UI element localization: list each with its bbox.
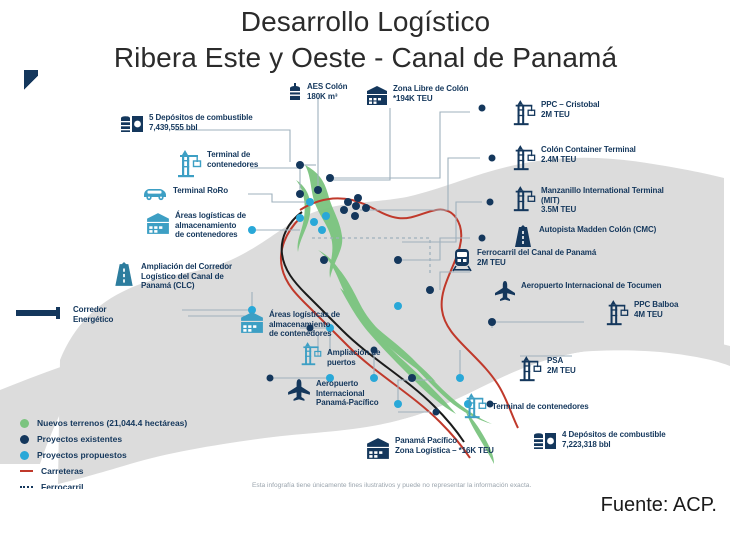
crane-icon bbox=[512, 145, 536, 171]
callout-terminal-contenedores-2[interactable]: Terminal de contenedores bbox=[463, 393, 589, 419]
crane-icon bbox=[518, 356, 542, 382]
callout-areas-logisticas-1[interactable]: Áreas logísticas de almacenamiento de co… bbox=[146, 211, 246, 240]
callout-aeropuerto-panama-pacifico[interactable]: Aeropuerto Internacional Panamá-Pacífico bbox=[287, 379, 379, 408]
callout-corredor-energetico[interactable]: Corredor Energético bbox=[16, 305, 113, 324]
legend-marker-cyan-dot bbox=[20, 451, 29, 460]
callout-manzanillo-mit[interactable]: Manzanillo International Terminal (MIT) … bbox=[512, 186, 664, 215]
callout-colon-container-terminal[interactable]: Colón Container Terminal 2.4M TEU bbox=[512, 145, 636, 171]
callout-terminal-contenedores-1[interactable]: Terminal de contenedores bbox=[176, 150, 258, 178]
callout-label: Aeropuerto Internacional de Tocumen bbox=[521, 281, 661, 291]
callout-depositos-5[interactable]: 5 Depósitos de combustible 7,439,555 bbl bbox=[120, 113, 253, 133]
legend: Nuevos terrenos (21,044.4 hectáreas) Pro… bbox=[18, 415, 248, 495]
callout-ppc-cristobal[interactable]: PPC – Cristobal 2M TEU bbox=[512, 100, 600, 126]
legend-label: Proyectos existentes bbox=[37, 434, 122, 444]
callout-label: Áreas logísticas de almacenamiento de co… bbox=[269, 310, 340, 339]
legend-marker-rail-dotted bbox=[20, 486, 33, 488]
callout-label: AES Colón 180K m³ bbox=[307, 82, 347, 101]
train-icon bbox=[452, 248, 472, 272]
callout-label: Panamá Pacífico Zona Logística – *16K TE… bbox=[395, 436, 494, 455]
legend-label: Nuevos terrenos (21,044.4 hectáreas) bbox=[37, 418, 187, 428]
warehouse-icon bbox=[366, 84, 388, 106]
callout-label: 5 Depósitos de combustible 7,439,555 bbl bbox=[149, 113, 253, 132]
fuel-depot-icon bbox=[120, 113, 144, 133]
legend-label: Carreteras bbox=[41, 466, 84, 476]
callout-label: Colón Container Terminal 2.4M TEU bbox=[541, 145, 636, 164]
legend-marker-green-dot bbox=[20, 419, 29, 428]
legend-item-nuevos-terrenos: Nuevos terrenos (21,044.4 hectáreas) bbox=[18, 415, 248, 431]
callout-label: Manzanillo International Terminal (MIT) … bbox=[541, 186, 664, 215]
callout-label: PPC – Cristobal 2M TEU bbox=[541, 100, 600, 119]
warehouse-icon bbox=[146, 211, 170, 235]
legend-marker-navy-dot bbox=[20, 435, 29, 444]
legend-item-proyectos-existentes: Proyectos existentes bbox=[18, 431, 248, 447]
callout-label: Terminal de contenedores bbox=[207, 150, 258, 169]
callout-ferrocarril-canal[interactable]: Ferrocarril del Canal de Panamá 2M TEU bbox=[452, 248, 596, 272]
callout-zona-libre-colon[interactable]: Zona Libre de Colón *194K TEU bbox=[366, 84, 468, 106]
callout-autopista-madden-colon[interactable]: Autopista Madden Colón (CMC) bbox=[512, 225, 656, 249]
crane-icon bbox=[463, 393, 487, 419]
callout-label: Ampliación del Corredor Logístico del Ca… bbox=[141, 262, 232, 291]
callout-label: Aeropuerto Internacional Panamá-Pacífico bbox=[316, 379, 379, 408]
callout-areas-logisticas-2[interactable]: Áreas logísticas de almacenamiento de co… bbox=[240, 310, 340, 339]
callout-label: Áreas logísticas de almacenamiento de co… bbox=[175, 211, 246, 240]
title-line-1: Desarrollo Logístico bbox=[0, 4, 731, 40]
airplane-icon bbox=[287, 379, 311, 401]
source-attribution: Fuente: ACP. bbox=[601, 494, 717, 517]
crane-icon bbox=[605, 300, 629, 326]
crane-icon bbox=[176, 150, 202, 178]
warehouse-icon bbox=[366, 436, 390, 460]
airplane-icon bbox=[494, 281, 516, 301]
callout-label: Terminal de contenedores bbox=[492, 402, 589, 412]
legend-label: Proyectos propuestos bbox=[37, 450, 127, 460]
callout-label: Terminal RoRo bbox=[173, 186, 228, 196]
callout-label: Ampliación de puertos bbox=[327, 348, 380, 367]
legend-marker-road-line bbox=[20, 470, 33, 472]
callout-panama-pacifico-zona-logistica[interactable]: Panamá Pacífico Zona Logística – *16K TE… bbox=[366, 436, 494, 460]
callout-label: PSA 2M TEU bbox=[547, 356, 576, 375]
crane-icon bbox=[512, 186, 536, 212]
energy-corridor-icon bbox=[16, 305, 68, 321]
callout-clc[interactable]: Ampliación del Corredor Logístico del Ca… bbox=[112, 262, 232, 291]
legend-item-carreteras: Carreteras bbox=[18, 463, 248, 479]
highway-icon bbox=[512, 225, 534, 249]
callout-ppc-balboa[interactable]: PPC Balboa 4M TEU bbox=[605, 300, 678, 326]
fuel-depot-icon bbox=[533, 430, 557, 450]
callout-label: PPC Balboa 4M TEU bbox=[634, 300, 678, 319]
callout-label: Ferrocarril del Canal de Panamá 2M TEU bbox=[477, 248, 596, 267]
warehouse-icon bbox=[240, 310, 264, 334]
callout-depositos-4[interactable]: 4 Depósitos de combustible 7,223,318 bbl bbox=[533, 430, 666, 450]
crane-icon bbox=[512, 100, 536, 126]
highway-icon bbox=[112, 262, 136, 288]
callout-terminal-roro[interactable]: Terminal RoRo bbox=[142, 186, 228, 201]
callout-label: Corredor Energético bbox=[73, 305, 113, 324]
crane-icon bbox=[300, 342, 322, 366]
legend-item-proyectos-propuestos: Proyectos propuestos bbox=[18, 447, 248, 463]
roro-car-icon bbox=[142, 186, 168, 201]
callout-ampliacion-puertos[interactable]: Ampliación de puertos bbox=[300, 342, 380, 367]
callout-label: 4 Depósitos de combustible 7,223,318 bbl bbox=[562, 430, 666, 449]
callout-label: Autopista Madden Colón (CMC) bbox=[539, 225, 656, 235]
storage-tank-icon bbox=[288, 82, 302, 102]
callout-aes-colon[interactable]: AES Colón 180K m³ bbox=[288, 82, 347, 102]
callout-psa[interactable]: PSA 2M TEU bbox=[518, 356, 576, 382]
infographic-canvas: Desarrollo Logístico Ribera Este y Oeste… bbox=[0, 0, 731, 534]
callout-aeropuerto-tocumen[interactable]: Aeropuerto Internacional de Tocumen bbox=[494, 281, 661, 301]
callout-label: Zona Libre de Colón *194K TEU bbox=[393, 84, 468, 103]
